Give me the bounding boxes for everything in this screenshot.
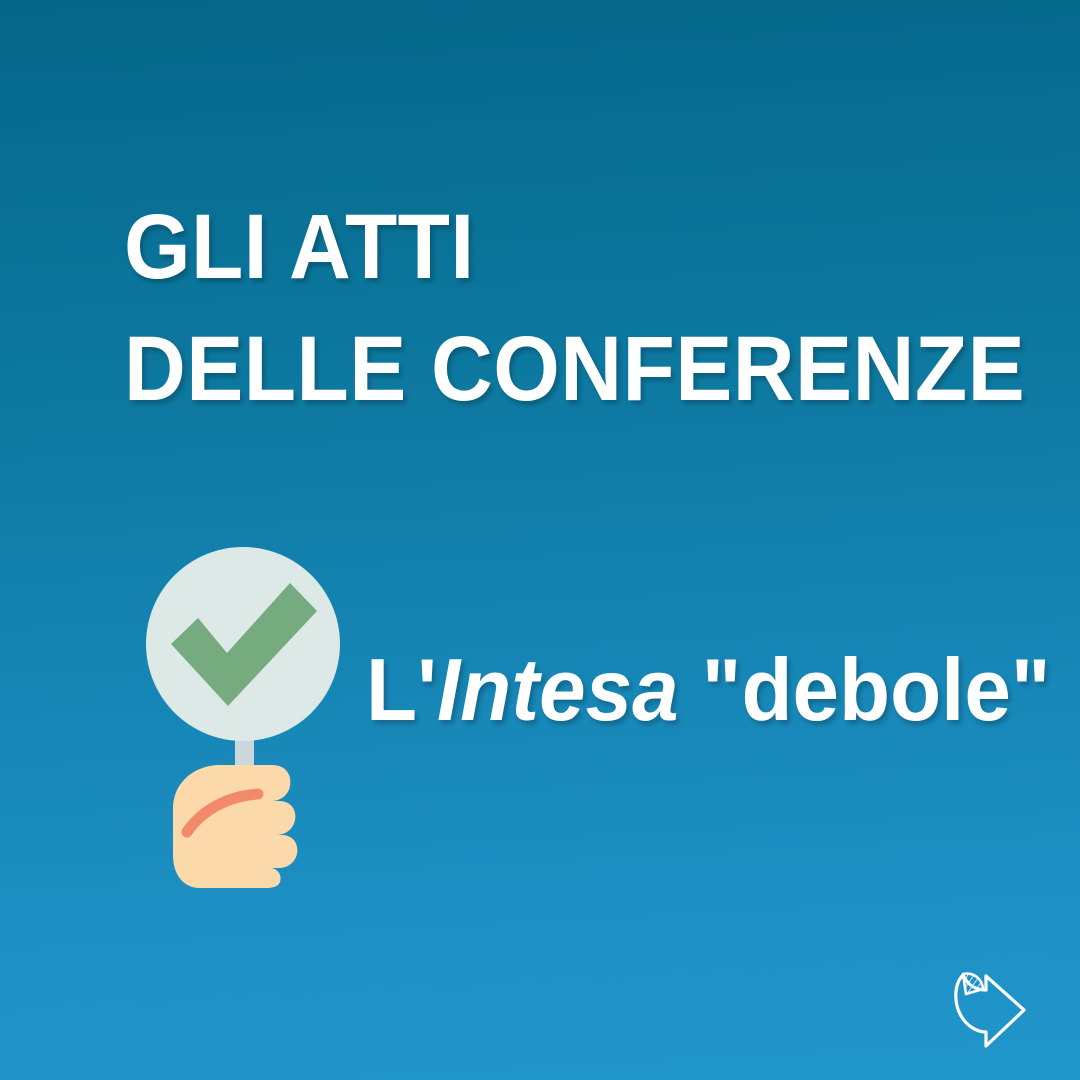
page-title: GLI ATTI DELLE CONFERENZE xyxy=(124,186,1024,430)
hand xyxy=(173,765,297,888)
hand-holding-check-paddle-icon xyxy=(140,543,350,888)
social-card: GLI ATTI DELLE CONFERENZE L'Intesa "debo… xyxy=(0,0,1080,1080)
subtitle: L'Intesa "debole" xyxy=(366,640,1051,740)
title-line-1: GLI ATTI xyxy=(124,186,961,308)
swipe-right-arrow-icon[interactable] xyxy=(946,962,1038,1054)
subtitle-prefix: L' xyxy=(366,640,437,739)
title-line-2: DELLE CONFERENZE xyxy=(124,308,961,430)
subtitle-suffix: "debole" xyxy=(679,640,1051,739)
subtitle-emphasis: Intesa xyxy=(437,640,679,739)
